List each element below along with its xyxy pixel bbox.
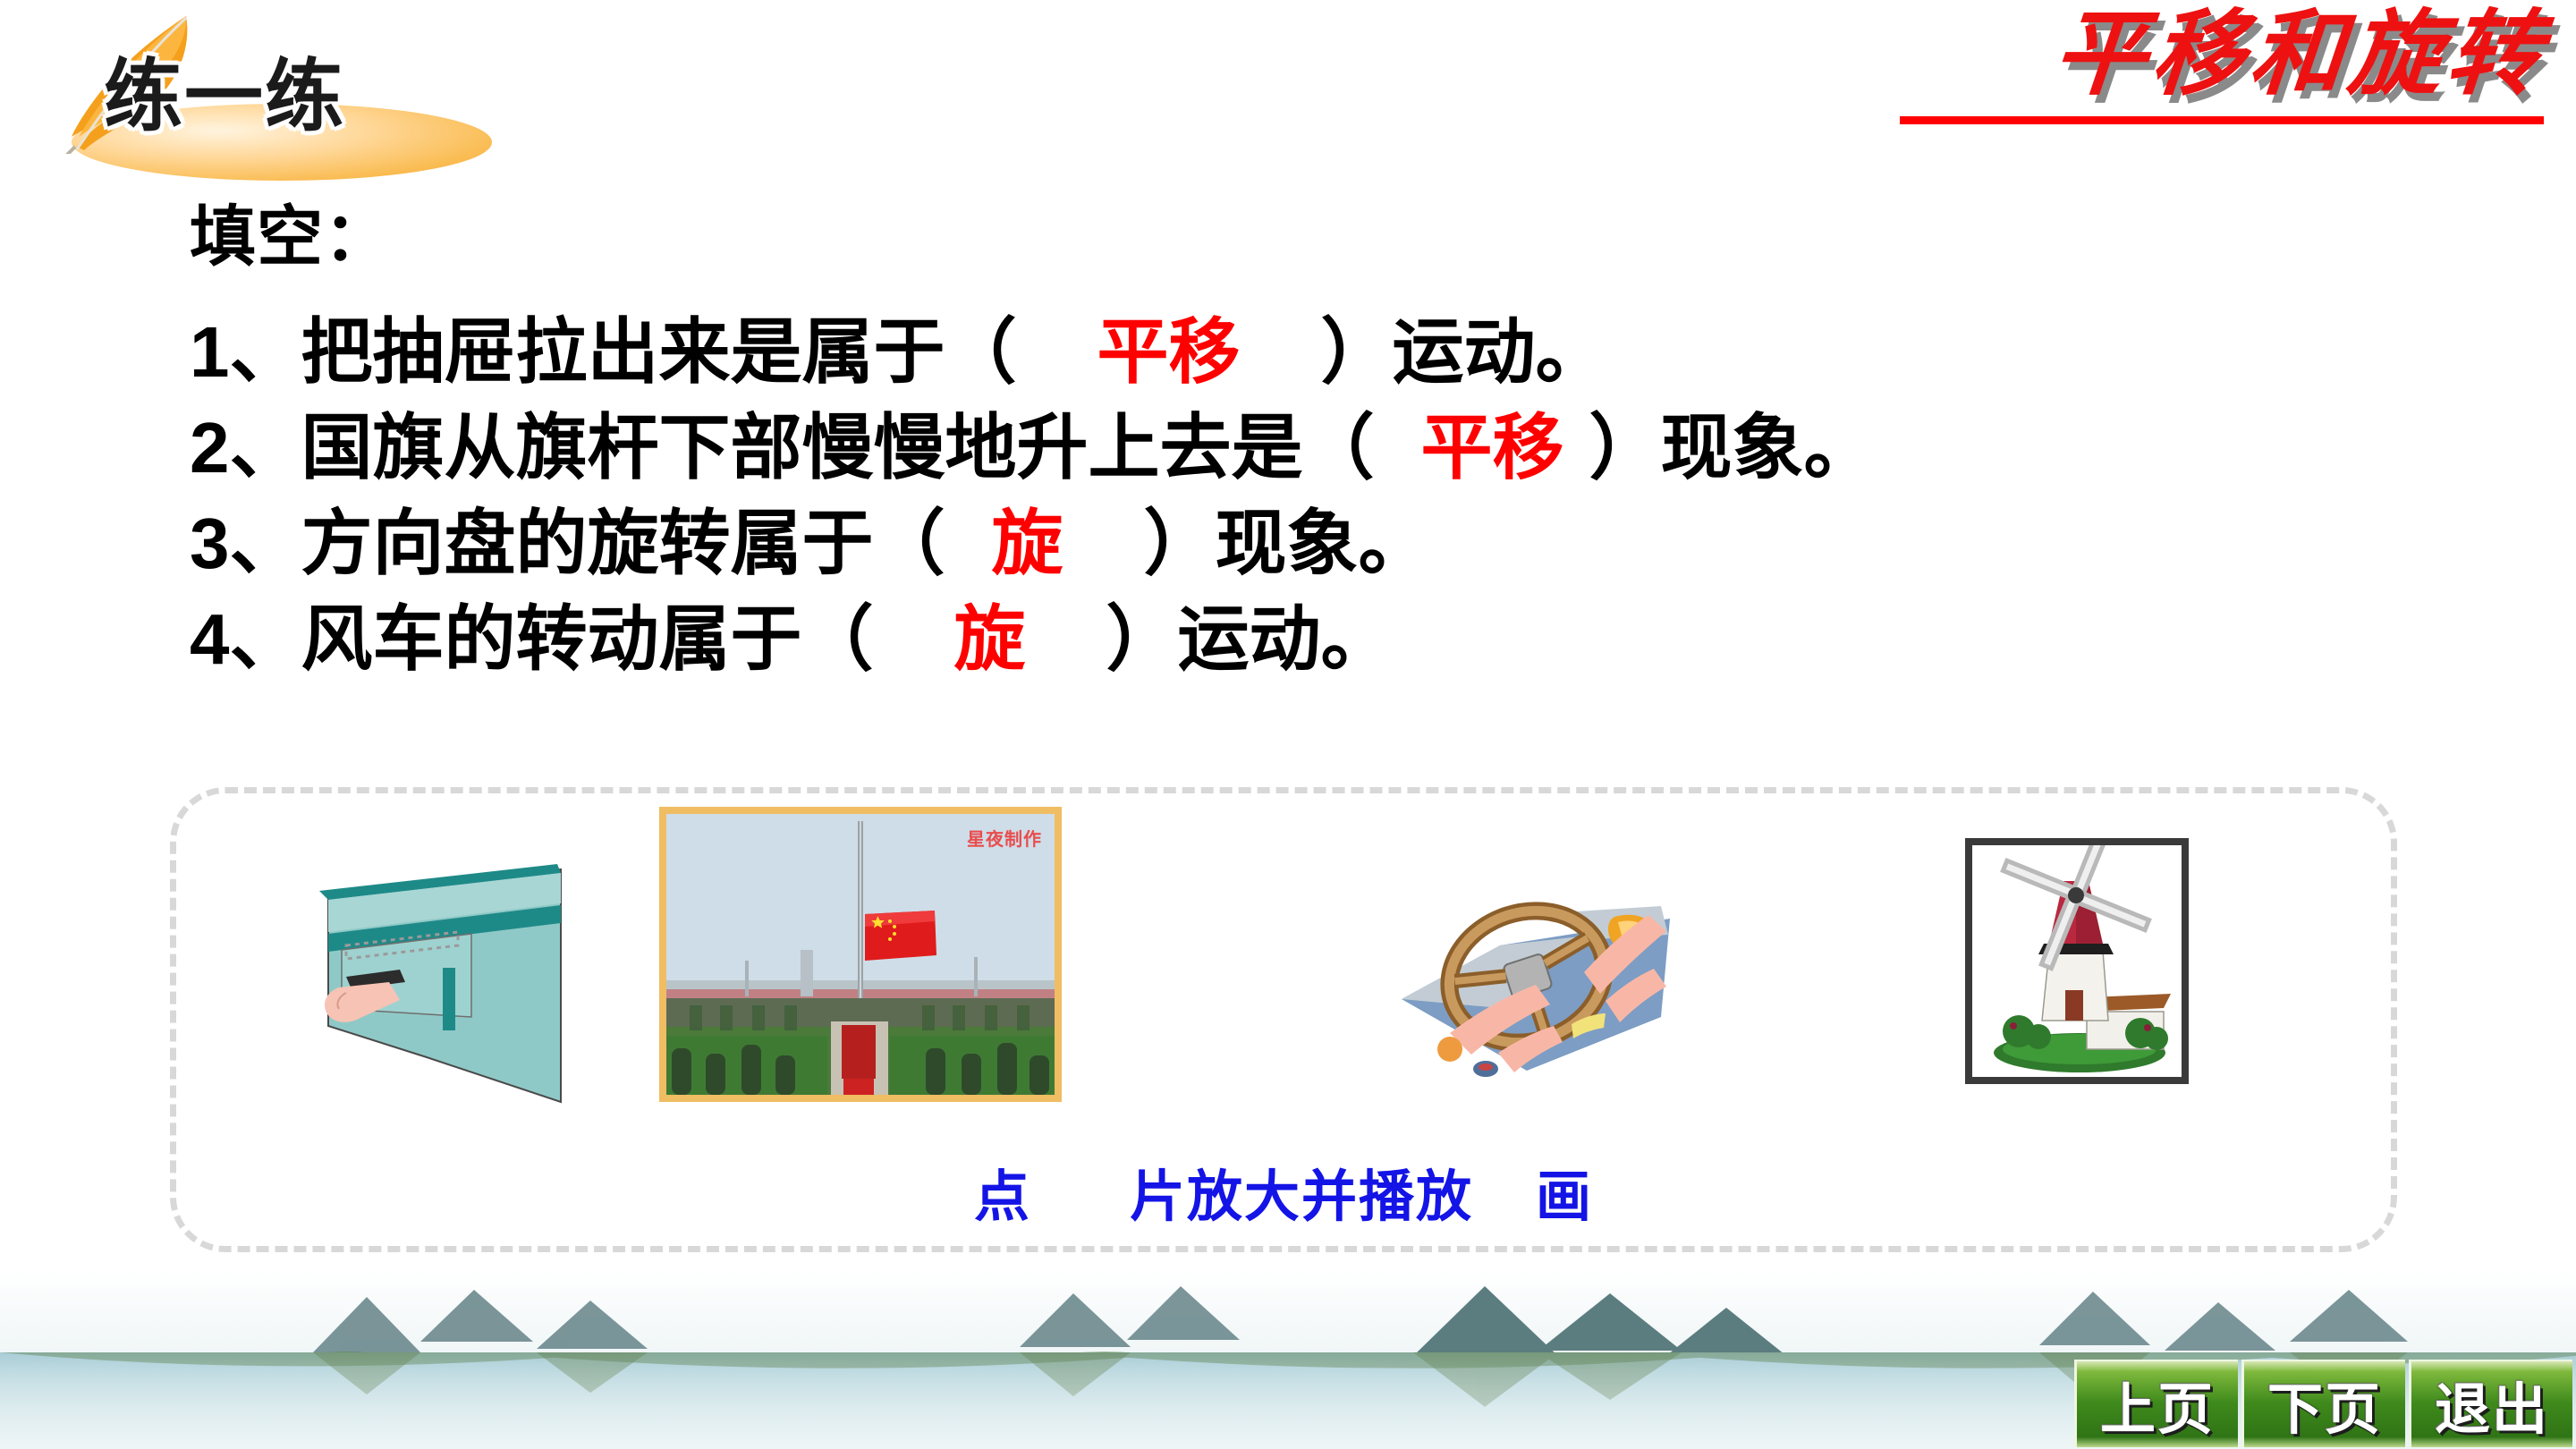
caption-part-2: 片放大并播放 bbox=[1130, 1166, 1473, 1228]
next-page-button[interactable]: 下页 bbox=[2241, 1360, 2405, 1447]
question-row: 2、国旗从旗杆下部慢慢地升上去是（平移）现象。 bbox=[190, 400, 2336, 496]
caption-part-1: 点 bbox=[974, 1166, 1031, 1228]
drawer-clipart[interactable] bbox=[292, 834, 713, 1129]
title-underline bbox=[1900, 116, 2544, 124]
question-tail: ）运动。 bbox=[1321, 312, 1607, 392]
steeringwheel-clipart[interactable] bbox=[1393, 865, 1715, 1089]
flagraising-photo[interactable]: 星夜制作 bbox=[659, 807, 1062, 1102]
navigation-bar: 上页 下页 退出 bbox=[2074, 1360, 2572, 1447]
question-text: 把抽屉拉出来是属于（ bbox=[301, 312, 1017, 392]
question-number: 4、 bbox=[190, 599, 301, 679]
windmill-clipart[interactable] bbox=[1965, 838, 2189, 1084]
question-text: 风车的转动属于（ bbox=[301, 599, 874, 679]
question-answer: 平移 bbox=[1421, 408, 1564, 487]
page-title: 平移和旋转 bbox=[2049, 2, 2550, 106]
illustration-panel: 星夜制作 bbox=[170, 787, 2397, 1252]
exit-button[interactable]: 退出 bbox=[2409, 1360, 2572, 1447]
illustration-row: 星夜制作 bbox=[176, 793, 2391, 1246]
question-row: 3、方向盘的旋转属于（旋）现象。 bbox=[190, 496, 2336, 591]
photo-watermark: 星夜制作 bbox=[967, 825, 1042, 851]
question-tail: ）现象。 bbox=[1589, 408, 1876, 487]
slide-title-block: 平移和旋转 bbox=[1873, 2, 2553, 136]
question-answer: 旋 bbox=[992, 504, 1063, 583]
question-number: 3、 bbox=[190, 504, 301, 583]
question-tail: ）现象。 bbox=[1144, 504, 1430, 583]
question-answer: 平移 bbox=[1097, 312, 1241, 392]
question-text: 国旗从旗杆下部慢慢地升上去是（ bbox=[301, 408, 1375, 487]
question-row: 1、把抽屉拉出来是属于（平移）运动。 bbox=[190, 304, 2336, 400]
question-answer: 旋 bbox=[954, 599, 1026, 679]
question-number: 1、 bbox=[190, 312, 301, 392]
prev-page-button[interactable]: 上页 bbox=[2074, 1360, 2238, 1447]
practice-badge: 练一练 bbox=[18, 7, 519, 177]
question-list: 1、把抽屉拉出来是属于（平移）运动。 2、国旗从旗杆下部慢慢地升上去是（平移）现… bbox=[190, 304, 2336, 687]
question-number: 2、 bbox=[190, 408, 301, 487]
question-row: 4、风车的转动属于（旋）运动。 bbox=[190, 591, 2336, 687]
panel-caption[interactable]: 点片放大并播放画 bbox=[176, 1151, 2391, 1232]
question-text: 方向盘的旋转属于（ bbox=[301, 504, 945, 583]
question-tail: ）运动。 bbox=[1106, 599, 1393, 679]
section-heading: 填空： bbox=[190, 183, 391, 279]
slide-root: 练一练 平移和旋转 填空： 1、把抽屉拉出来是属于（平移）运动。 2、国旗从旗杆… bbox=[0, 0, 2576, 1449]
badge-label: 练一练 bbox=[104, 27, 479, 152]
caption-part-3: 画 bbox=[1536, 1166, 1593, 1228]
